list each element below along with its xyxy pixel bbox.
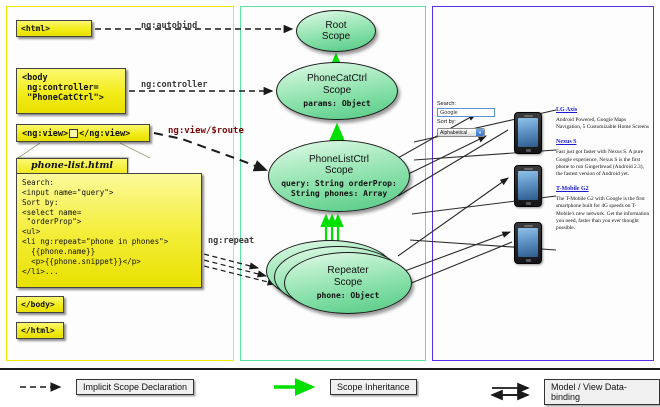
edge-label-ng-controller: ng:controller: [141, 80, 208, 90]
chevron-down-icon: ▾: [476, 129, 484, 136]
legend-item-scope-inheritance: Scope Inheritance: [272, 379, 417, 395]
phone-speaker-icon-1: [524, 168, 533, 170]
phone-screen-1: [518, 171, 538, 200]
phone-snippet-0: Android Powered, Google Maps Navigation,…: [556, 117, 650, 131]
scope-list-line1: PhoneListCtrl: [309, 154, 369, 165]
scope-root-line1: Root: [325, 20, 346, 31]
ng-view-placeholder-icon: [69, 129, 78, 138]
scope-root: Root Scope: [296, 10, 376, 52]
scope-list-line2: Scope: [325, 165, 353, 176]
search-input[interactable]: Google: [437, 108, 495, 117]
scope-phonecatctrl-props: params: Object: [303, 99, 370, 109]
legend-item-implicit-scope: Implicit Scope Declaration: [18, 379, 194, 395]
list-item: T-Mobile G2 The T-Mobile G2 with Google …: [556, 185, 650, 232]
scope-phonecatctrl: PhoneCatCtrl Scope params: Object: [276, 62, 398, 120]
phone-name-link-1[interactable]: Nexus S: [556, 138, 650, 147]
edge-label-ng-autobind: ng:autobind: [141, 21, 197, 31]
code-box-html-open: <html>: [16, 20, 92, 37]
phone-name-link-2[interactable]: T-Mobile G2: [556, 185, 650, 194]
search-form: Search: Google Sort by: Alphabetical ▾: [437, 101, 499, 137]
edge-label-ng-repeat: ng:repeat: [208, 236, 254, 246]
sort-select[interactable]: Alphabetical ▾: [437, 128, 485, 137]
phone-home-button-1: [526, 202, 531, 205]
code-box-body-open: <body ng:controller= "PhoneCatCtrl">: [16, 68, 126, 114]
scope-repeater-name: Repeater Scope: [327, 265, 368, 287]
phone-screen-0: [518, 118, 538, 147]
phone-speaker-icon-2: [524, 225, 533, 227]
phone-thumbnail-2: [514, 222, 542, 264]
phone-snippet-1: Fast just got faster with Nexus S. A pur…: [556, 149, 650, 178]
phone-home-button-2: [526, 259, 531, 262]
scope-repeater: Repeater Scope phone: Object: [284, 252, 412, 314]
legend-item-data-binding: Model / View Data-binding: [490, 379, 660, 405]
phone-speaker-icon-0: [524, 115, 533, 117]
ng-view-open-tag: <ng:view>: [22, 129, 68, 139]
file-card-tab: phone-list.html: [16, 158, 128, 174]
scope-cat-line1: PhoneCatCtrl: [307, 73, 367, 84]
phone-screen-2: [518, 228, 538, 257]
diagram-canvas: <html> <body ng:controller= "PhoneCatCtr…: [0, 0, 660, 405]
code-box-html-close: </html>: [16, 322, 64, 339]
edge-label-ng-view-route: ng:view/$route: [168, 126, 244, 136]
code-box-body-close: </body>: [16, 296, 64, 313]
sort-label: Sort by:: [437, 119, 499, 126]
sort-select-value: Alphabetical: [440, 130, 467, 136]
legend-label-scope-inheritance: Scope Inheritance: [330, 379, 417, 395]
phone-home-button-0: [526, 149, 531, 152]
phone-snippet-2: The T-Mobile G2 with Google is the first…: [556, 196, 650, 232]
ng-view-close-tag: </ng:view>: [79, 129, 130, 139]
legend: Implicit Scope Declaration Scope Inherit…: [0, 368, 660, 407]
list-item: Nexus S Fast just got faster with Nexus …: [556, 138, 650, 178]
phone-thumbnail-0: [514, 112, 542, 154]
phone-name-link-0[interactable]: LG Axis: [556, 106, 650, 115]
scope-phonecatctrl-name: PhoneCatCtrl Scope: [307, 73, 367, 95]
scope-phonelistctrl: PhoneListCtrl Scope query: String orderP…: [268, 140, 410, 212]
code-box-ng-view: <ng:view></ng:view>: [16, 124, 150, 142]
dashed-arrow-icon: [18, 381, 70, 393]
phone-thumbnail-1: [514, 165, 542, 207]
search-label: Search:: [437, 101, 499, 108]
scope-rep-line1: Repeater: [327, 265, 368, 276]
file-card-code: Search: <input name="query"> Sort by: <s…: [16, 173, 202, 288]
double-arrow-icon: [490, 384, 538, 400]
legend-label-implicit-scope: Implicit Scope Declaration: [76, 379, 194, 395]
file-card-phone-list: phone-list.html Search: <input name="que…: [16, 158, 202, 288]
scope-repeater-props: phone: Object: [317, 291, 380, 301]
legend-label-data-binding: Model / View Data-binding: [544, 379, 660, 405]
phone-list: LG Axis Android Powered, Google Maps Nav…: [556, 106, 650, 239]
file-card-title: phone-list.html: [17, 159, 127, 173]
scope-root-name: Root Scope: [322, 20, 350, 42]
scope-rep-line2: Scope: [334, 277, 362, 288]
scope-phonelistctrl-props: query: String orderProp: String phones: …: [269, 179, 409, 199]
scope-root-line2: Scope: [322, 31, 350, 42]
list-item: LG Axis Android Powered, Google Maps Nav…: [556, 106, 650, 131]
green-arrow-icon: [272, 381, 324, 393]
scope-phonelistctrl-name: PhoneListCtrl Scope: [309, 154, 369, 176]
scope-cat-line2: Scope: [323, 85, 351, 96]
